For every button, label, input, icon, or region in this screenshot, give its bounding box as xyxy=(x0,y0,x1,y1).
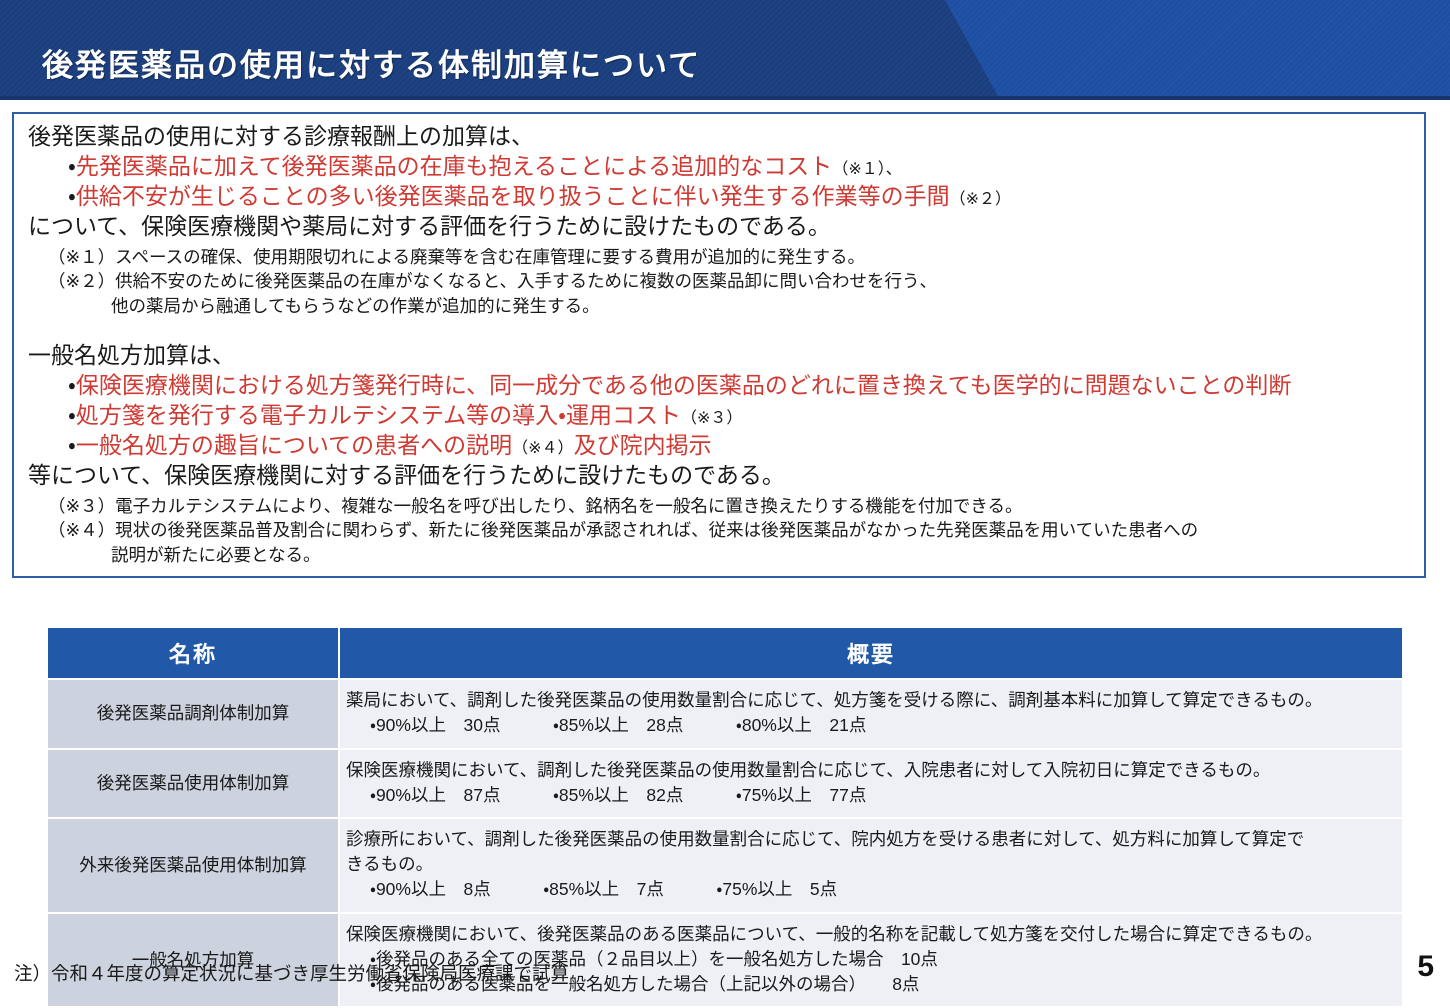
section2-bullet-3: ・一般名処方の趣旨についての患者への説明（※４）及び院内掲示 xyxy=(28,431,1410,461)
section1-note-2: （※２）供給不安のために後発医薬品の在庫がなくなると、入手するために複数の医薬品… xyxy=(28,269,1410,294)
desc-sub-line: ・90%以上 8点 ・85%以上 7点 ・75%以上 5点 xyxy=(346,877,1392,902)
page-title: 後発医薬品の使用に対する体制加算について xyxy=(42,40,701,85)
section2-bullet-3-text: 一般名処方の趣旨についての患者への説明 xyxy=(76,432,512,458)
section2-note-3-label: （※３） xyxy=(48,496,115,516)
section2-note-4-line-1: 現状の後発医薬品普及割合に関わらず、新たに後発医薬品が承認されれば、従来は後発医… xyxy=(115,520,1198,540)
section1-note-1-label: （※１） xyxy=(48,247,115,267)
section1-closing: について、保険医療機関や薬局に対する評価を行うために設けたものである。 xyxy=(28,212,1410,242)
section2-closing: 等について、保険医療機関に対する評価を行うために設けたものである。 xyxy=(28,461,1410,491)
table-header-summary: 概要 xyxy=(340,628,1402,678)
table-cell-desc: 診療所において、調剤した後発医薬品の使用数量割合に応じて、院内処方を受ける患者に… xyxy=(340,819,1402,912)
title-bar: 後発医薬品の使用に対する体制加算について xyxy=(0,0,1450,100)
section2-bullet-2-ref: （※３） xyxy=(681,410,742,427)
section1-note-2-line-2-row: 他の薬局から融通してもらうなどの作業が追加的に発生する。 xyxy=(28,294,1410,319)
section1-bullet-2: ・供給不安が生じることの多い後発医薬品を取り扱うことに伴い発生する作業等の手間（… xyxy=(28,182,1410,212)
desc-line: 診療所において、調剤した後発医薬品の使用数量割合に応じて、院内処方を受ける患者に… xyxy=(346,827,1392,852)
page-number: 5 xyxy=(1417,950,1434,984)
bullet-marker-icon: ・ xyxy=(68,402,76,428)
section2-bullet-2: ・処方箋を発行する電子カルテシステム等の導入・運用コスト（※３） xyxy=(28,401,1410,431)
desc-line: 保険医療機関において、調剤した後発医薬品の使用数量割合に応じて、入院患者に対して… xyxy=(346,758,1392,783)
section2-note-4-line-2: 説明が新たに必要となる。 xyxy=(111,545,320,565)
table-cell-name: 後発医薬品使用体制加算 xyxy=(48,750,338,818)
table-header-row: 名称 概要 xyxy=(48,628,1402,678)
section2-note-4-line-2-row: 説明が新たに必要となる。 xyxy=(28,543,1410,568)
bullet-marker-icon: ・ xyxy=(68,153,76,179)
section1-bullet-1: ・先発医薬品に加えて後発医薬品の在庫も抱えることによる追加的なコスト（※１）、 xyxy=(28,152,1410,182)
title-underline xyxy=(0,96,1450,100)
additions-table: 名称 概要 後発医薬品調剤体制加算 薬局において、調剤した後発医薬品の使用数量割… xyxy=(46,626,1404,1008)
section2-note-4: （※４）現状の後発医薬品普及割合に関わらず、新たに後発医薬品が承認されれば、従来… xyxy=(28,518,1410,543)
table-row: 後発医薬品使用体制加算 保険医療機関において、調剤した後発医薬品の使用数量割合に… xyxy=(48,750,1402,818)
bullet-marker-icon: ・ xyxy=(68,372,76,398)
section1-bullet-2-ref: （※２） xyxy=(950,191,1011,208)
section1-note-1: （※１）スペースの確保、使用期限切れによる廃棄等を含む在庫管理に要する費用が追加… xyxy=(28,245,1410,270)
main-content-box: 後発医薬品の使用に対する診療報酬上の加算は、 ・先発医薬品に加えて後発医薬品の在… xyxy=(12,112,1426,578)
table-header-name: 名称 xyxy=(48,628,338,678)
desc-sub-line: ・90%以上 30点 ・85%以上 28点 ・80%以上 21点 xyxy=(346,713,1392,738)
section1-note-1-line-1: スペースの確保、使用期限切れによる廃棄等を含む在庫管理に要する費用が追加的に発生… xyxy=(115,247,865,267)
footer-note: 注）令和４年度の算定状況に基づき厚生労働省保険局医療課で試算 xyxy=(14,960,569,986)
section1-bullet-1-ref: （※１） xyxy=(832,161,885,178)
section1-note-2-line-2: 他の薬局から融通してもらうなどの作業が追加的に発生する。 xyxy=(111,296,600,316)
section2-bullet-3-tail: 及び院内掲示 xyxy=(574,432,712,458)
bullet-marker-icon: ・ xyxy=(68,183,76,209)
table-cell-desc: 薬局において、調剤した後発医薬品の使用数量割合に応じて、処方箋を受ける際に、調剤… xyxy=(340,680,1402,748)
section1-note-2-line-1: 供給不安のために後発医薬品の在庫がなくなると、入手するために複数の医薬品卸に問い… xyxy=(115,271,937,291)
table-row: 外来後発医薬品使用体制加算 診療所において、調剤した後発医薬品の使用数量割合に応… xyxy=(48,819,1402,912)
table-cell-name: 後発医薬品調剤体制加算 xyxy=(48,680,338,748)
desc-line: 保険医療機関において、後発医薬品のある医薬品について、一般的名称を記載して処方箋… xyxy=(346,922,1392,947)
desc-line: 薬局において、調剤した後発医薬品の使用数量割合に応じて、処方箋を受ける際に、調剤… xyxy=(346,688,1392,713)
section2-note-4-label: （※４） xyxy=(48,520,115,540)
desc-sub-line: ・90%以上 87点 ・85%以上 82点 ・75%以上 77点 xyxy=(346,783,1392,808)
section1-bullet-1-tail: 、 xyxy=(886,161,902,178)
section1-bullet-1-text: 先発医薬品に加えて後発医薬品の在庫も抱えることによる追加的なコスト xyxy=(76,153,832,179)
table-row: 後発医薬品調剤体制加算 薬局において、調剤した後発医薬品の使用数量割合に応じて、… xyxy=(48,680,1402,748)
table-cell-desc: 保険医療機関において、調剤した後発医薬品の使用数量割合に応じて、入院患者に対して… xyxy=(340,750,1402,818)
section2-note-3-line-1: 電子カルテシステムにより、複雑な一般名を呼び出したり、銘柄名を一般名に置き換えた… xyxy=(115,496,1022,516)
section1-lead: 後発医薬品の使用に対する診療報酬上の加算は、 xyxy=(28,122,1410,152)
section2-bullet-1-text: 保険医療機関における処方箋発行時に、同一成分である他の医薬品のどれに置き換えても… xyxy=(76,372,1292,398)
section2-bullet-3-ref: （※４） xyxy=(512,440,573,457)
section1-note-2-label: （※２） xyxy=(48,271,115,291)
section2-bullet-2-text: 処方箋を発行する電子カルテシステム等の導入・運用コスト xyxy=(76,402,681,428)
desc-line: きるもの。 xyxy=(346,852,1392,877)
section2-lead: 一般名処方加算は、 xyxy=(28,341,1410,371)
section2-note-3: （※３）電子カルテシステムにより、複雑な一般名を呼び出したり、銘柄名を一般名に置… xyxy=(28,494,1410,519)
section1-bullet-2-text: 供給不安が生じることの多い後発医薬品を取り扱うことに伴い発生する作業等の手間 xyxy=(76,183,950,209)
table-cell-name: 外来後発医薬品使用体制加算 xyxy=(48,819,338,912)
bullet-marker-icon: ・ xyxy=(68,432,76,458)
section2-bullet-1: ・保険医療機関における処方箋発行時に、同一成分である他の医薬品のどれに置き換えて… xyxy=(28,371,1410,401)
